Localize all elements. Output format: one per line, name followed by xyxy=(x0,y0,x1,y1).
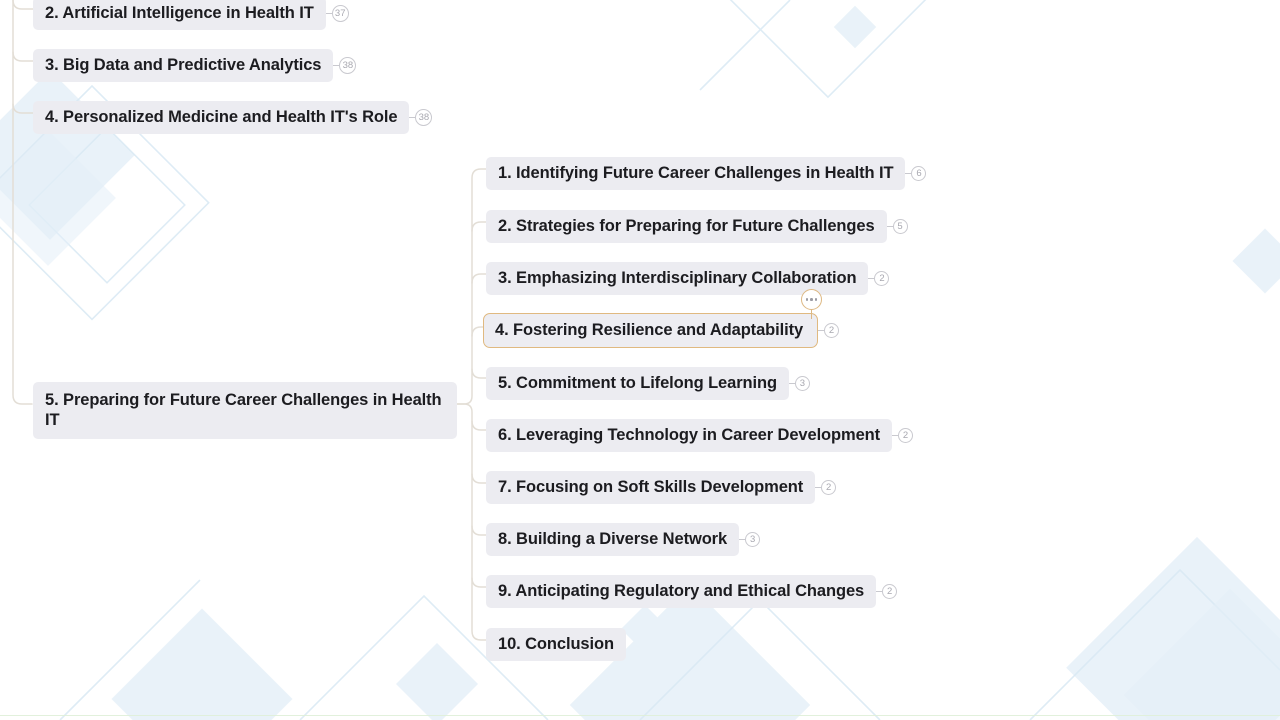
left-node-2[interactable]: 2. Artificial Intelligence in Health IT … xyxy=(33,0,349,30)
child-count-badge: 2 xyxy=(824,323,839,338)
node-badge-group: 37 xyxy=(326,5,349,22)
child-count-badge: 3 xyxy=(745,532,760,547)
right-node-2[interactable]: 2. Strategies for Preparing for Future C… xyxy=(486,210,908,243)
right-node-5[interactable]: 5. Commitment to Lifelong Learning 3 xyxy=(486,367,810,400)
right-node-10[interactable]: 10. Conclusion xyxy=(486,628,626,661)
node-label: 5. Preparing for Future Career Challenge… xyxy=(33,382,457,439)
right-node-9[interactable]: 9. Anticipating Regulatory and Ethical C… xyxy=(486,575,897,608)
ellipsis-icon[interactable] xyxy=(801,289,822,310)
node-label: 10. Conclusion xyxy=(486,628,626,661)
node-label: 9. Anticipating Regulatory and Ethical C… xyxy=(486,575,876,608)
node-label: 2. Artificial Intelligence in Health IT xyxy=(33,0,326,30)
node-label: 4. Personalized Medicine and Health IT's… xyxy=(33,101,409,134)
node-badge-group: 38 xyxy=(333,57,356,74)
node-label: 5. Commitment to Lifelong Learning xyxy=(486,367,789,400)
child-count-badge: 3 xyxy=(795,376,810,391)
left-node-3[interactable]: 3. Big Data and Predictive Analytics 38 xyxy=(33,49,356,82)
badge-connector xyxy=(326,13,332,14)
right-node-7[interactable]: 7. Focusing on Soft Skills Development 2 xyxy=(486,471,836,504)
child-count-badge: 5 xyxy=(893,219,908,234)
node-badge-group: 2 xyxy=(868,271,889,286)
node-label: 2. Strategies for Preparing for Future C… xyxy=(486,210,887,243)
child-count-badge: 2 xyxy=(874,271,889,286)
node-label: 8. Building a Diverse Network xyxy=(486,523,739,556)
node-badge-group: 2 xyxy=(876,584,897,599)
ellipsis-dots xyxy=(806,298,818,301)
child-count-badge: 2 xyxy=(821,480,836,495)
node-label: 7. Focusing on Soft Skills Development xyxy=(486,471,815,504)
child-count-badge: 2 xyxy=(882,584,897,599)
left-node-5-parent[interactable]: 5. Preparing for Future Career Challenge… xyxy=(33,382,457,439)
child-count-badge: 38 xyxy=(339,57,356,74)
node-label: 3. Big Data and Predictive Analytics xyxy=(33,49,333,82)
node-badge-group: 6 xyxy=(905,166,926,181)
node-badge-group: 3 xyxy=(789,376,810,391)
left-node-4[interactable]: 4. Personalized Medicine and Health IT's… xyxy=(33,101,432,134)
node-badge-group: 2 xyxy=(892,428,913,443)
node-label: 1. Identifying Future Career Challenges … xyxy=(486,157,905,190)
node-badge-group: 2 xyxy=(818,323,839,338)
right-node-4-selected[interactable]: 4. Fostering Resilience and Adaptability… xyxy=(483,313,839,348)
node-label: 6. Leveraging Technology in Career Devel… xyxy=(486,419,892,452)
right-node-6[interactable]: 6. Leveraging Technology in Career Devel… xyxy=(486,419,913,452)
node-label: 4. Fostering Resilience and Adaptability xyxy=(483,313,818,348)
child-count-badge: 2 xyxy=(898,428,913,443)
right-node-3[interactable]: 3. Emphasizing Interdisciplinary Collabo… xyxy=(486,262,889,295)
child-count-badge: 38 xyxy=(415,109,432,126)
bottom-divider xyxy=(0,715,1280,717)
child-count-badge: 37 xyxy=(332,5,349,22)
right-node-8[interactable]: 8. Building a Diverse Network 3 xyxy=(486,523,760,556)
right-node-1[interactable]: 1. Identifying Future Career Challenges … xyxy=(486,157,926,190)
node-badge-group: 2 xyxy=(815,480,836,495)
node-badge-group: 38 xyxy=(409,109,432,126)
node-badge-group: 5 xyxy=(887,219,908,234)
badge-connector xyxy=(887,226,893,227)
node-badge-group: 3 xyxy=(739,532,760,547)
mindmap-canvas[interactable]: 2. Artificial Intelligence in Health IT … xyxy=(0,0,1280,720)
child-count-badge: 6 xyxy=(911,166,926,181)
